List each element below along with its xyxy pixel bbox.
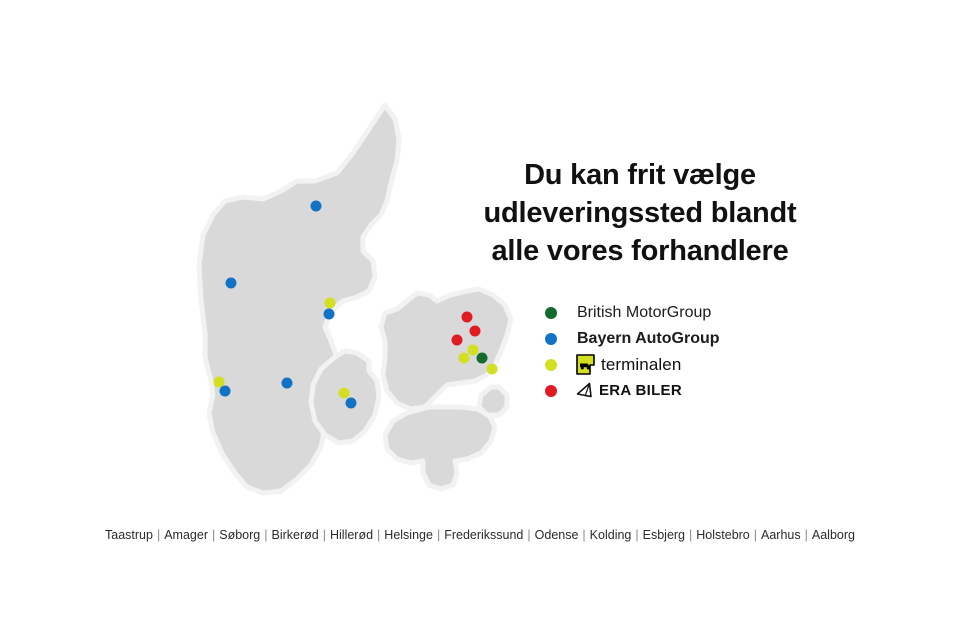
city-s-borg: Søborg bbox=[218, 528, 261, 542]
brand-legend: British MotorGroup Bayern AutoGroup term… bbox=[545, 300, 845, 404]
city-odense: Odense bbox=[534, 528, 580, 542]
map-marker-odense-terminalen[interactable] bbox=[339, 388, 350, 399]
legend-dot-blue bbox=[545, 333, 557, 345]
city-aalborg: Aalborg bbox=[811, 528, 856, 542]
map-marker-aalborg[interactable] bbox=[311, 201, 322, 212]
city-esbjerg: Esbjerg bbox=[642, 528, 686, 542]
legend-label-terminalen: terminalen bbox=[601, 355, 681, 375]
city-aarhus: Aarhus bbox=[760, 528, 802, 542]
headline-line-2: udleveringssted blandt bbox=[440, 194, 840, 232]
legend-item-terminalen[interactable]: terminalen bbox=[545, 352, 845, 377]
city-separator: | bbox=[686, 528, 695, 542]
city-separator: | bbox=[524, 528, 533, 542]
city-taastrup: Taastrup bbox=[104, 528, 154, 542]
city-separator: | bbox=[320, 528, 329, 542]
city-separator: | bbox=[751, 528, 760, 542]
map-marker-amager[interactable] bbox=[487, 364, 498, 375]
legend-item-british-motorgroup[interactable]: British MotorGroup bbox=[545, 300, 845, 325]
city-amager: Amager bbox=[163, 528, 209, 542]
headline-line-1: Du kan frit vælge bbox=[440, 156, 840, 194]
city-separator: | bbox=[434, 528, 443, 542]
map-marker-kolding[interactable] bbox=[282, 378, 293, 389]
map-marker-esbjerg[interactable] bbox=[220, 386, 231, 397]
city-separator: | bbox=[154, 528, 163, 542]
city-list: Taastrup|Amager|Søborg|Birkerød|Hillerød… bbox=[0, 528, 960, 542]
era-biler-logo-icon bbox=[575, 381, 594, 400]
legend-item-bayern-autogroup[interactable]: Bayern AutoGroup bbox=[545, 326, 845, 351]
terminalen-logo-icon bbox=[575, 354, 596, 375]
region-southeast-isle bbox=[479, 387, 507, 415]
poster-canvas: Du kan frit vælge udleveringssted blandt… bbox=[0, 0, 960, 640]
city-kolding: Kolding bbox=[589, 528, 633, 542]
map-marker-odense[interactable] bbox=[346, 398, 357, 409]
map-marker-aarhus[interactable] bbox=[324, 309, 335, 320]
map-marker-taastrup[interactable] bbox=[459, 353, 470, 364]
city-separator: | bbox=[374, 528, 383, 542]
legend-item-era-biler[interactable]: ERA BILER bbox=[545, 378, 845, 403]
map-marker-s-borg[interactable] bbox=[477, 353, 488, 364]
region-jutland bbox=[199, 105, 399, 493]
city-holstebro: Holstebro bbox=[695, 528, 751, 542]
city-frederikssund: Frederikssund bbox=[443, 528, 524, 542]
legend-dot-green bbox=[545, 307, 557, 319]
legend-dot-red bbox=[545, 385, 557, 397]
city-separator: | bbox=[209, 528, 218, 542]
region-lolland-falster bbox=[385, 407, 495, 489]
city-separator: | bbox=[579, 528, 588, 542]
legend-label-british-motorgroup: British MotorGroup bbox=[577, 304, 711, 322]
map-marker-aarhus-terminalen[interactable] bbox=[325, 298, 336, 309]
page-title: Du kan frit vælge udleveringssted blandt… bbox=[440, 156, 840, 270]
map-marker-helsinge[interactable] bbox=[462, 312, 473, 323]
legend-dot-yellow bbox=[545, 359, 557, 371]
city-separator: | bbox=[632, 528, 641, 542]
legend-label-era-biler: ERA BILER bbox=[599, 382, 682, 399]
city-helsinge: Helsinge bbox=[383, 528, 434, 542]
city-separator: | bbox=[802, 528, 811, 542]
legend-label-bayern-autogroup: Bayern AutoGroup bbox=[577, 330, 720, 348]
terminalen-lockup: terminalen bbox=[575, 354, 681, 375]
city-separator: | bbox=[261, 528, 270, 542]
map-marker-holstebro[interactable] bbox=[226, 278, 237, 289]
map-marker-hiller-d[interactable] bbox=[470, 326, 481, 337]
city-hiller-d: Hillerød bbox=[329, 528, 374, 542]
city-birker-d: Birkerød bbox=[271, 528, 320, 542]
headline-line-3: alle vores forhandlere bbox=[440, 232, 840, 270]
map-marker-frederikssund[interactable] bbox=[452, 335, 463, 346]
era-biler-lockup: ERA BILER bbox=[575, 381, 682, 400]
